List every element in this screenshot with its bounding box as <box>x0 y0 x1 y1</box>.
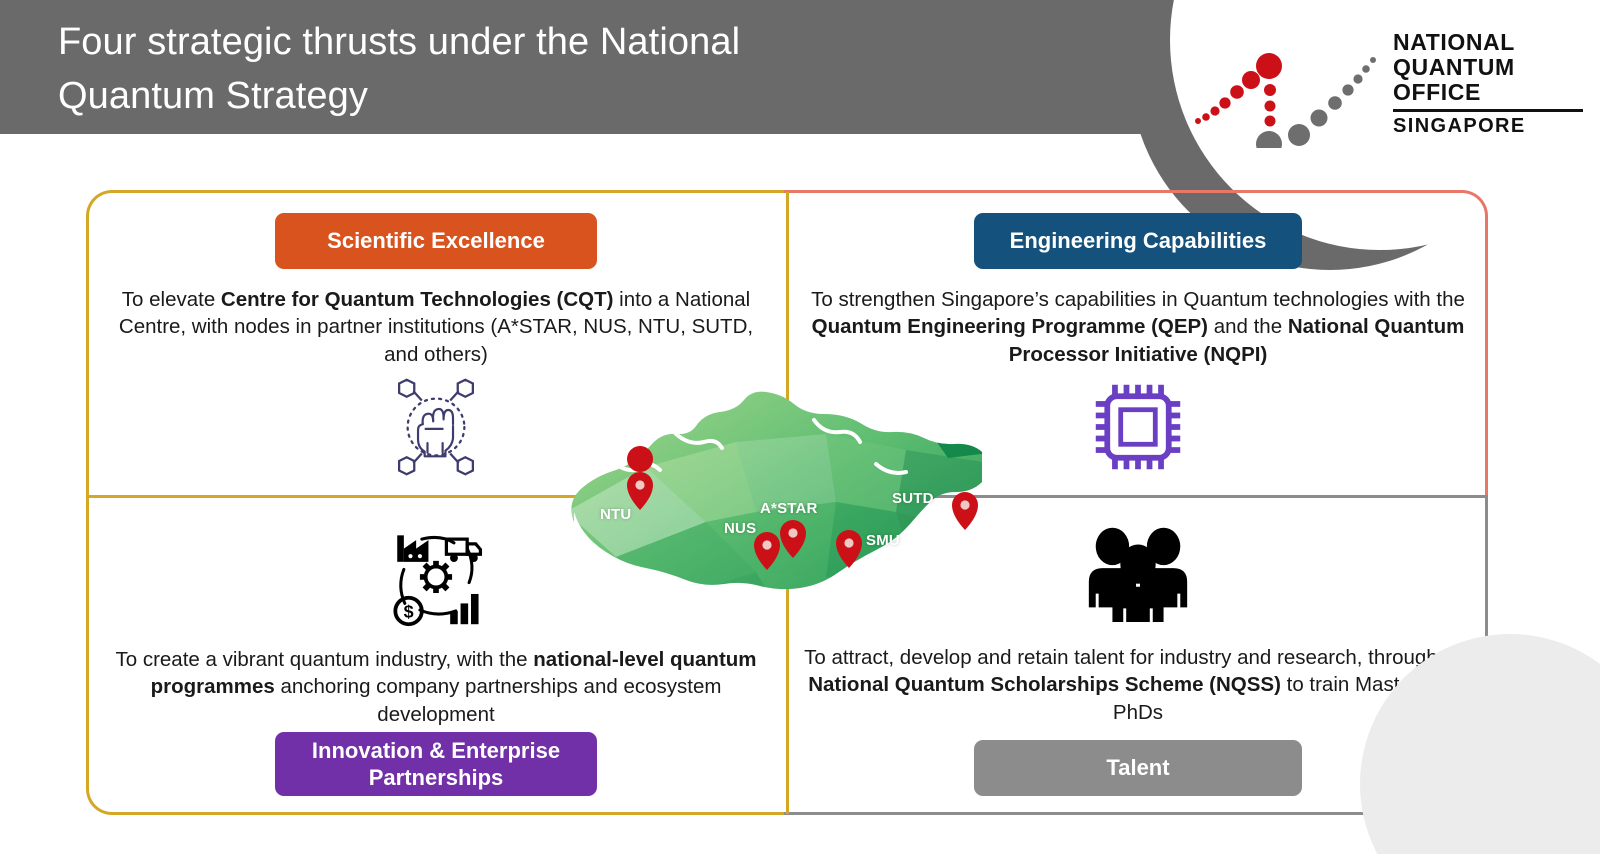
map-label-astar: A*STAR <box>760 500 818 517</box>
singapore-map: NTU NUS A*STAR SMU SUTD <box>556 372 1026 652</box>
map-label-nus: NUS <box>724 520 756 537</box>
slide-root: Four strategic thrusts under the Nationa… <box>0 0 1600 854</box>
svg-text:$: $ <box>404 602 414 622</box>
logo-dots-mark <box>1185 18 1385 148</box>
map-label-ntu: NTU <box>600 506 631 523</box>
logo-line-office: OFFICE <box>1393 80 1583 105</box>
group-of-people-icon <box>1078 516 1198 628</box>
page-title: Four strategic thrusts under the Nationa… <box>58 16 918 124</box>
map-label-sutd: SUTD <box>892 490 934 507</box>
logo-line-quantum: QUANTUM <box>1393 55 1583 80</box>
logo-line-singapore: SINGAPORE <box>1393 115 1583 138</box>
pill-talent[interactable]: Talent <box>974 740 1302 796</box>
pill-innovation-enterprise[interactable]: Innovation & Enterprise Partnerships <box>275 732 597 796</box>
map-label-smu: SMU <box>866 532 900 549</box>
nqo-logo: NATIONAL QUANTUM OFFICE SINGAPORE <box>1185 18 1585 148</box>
body-engineering-capabilities: To strengthen Singapore’s capabilities i… <box>806 286 1470 368</box>
map-pin-sutd <box>952 492 978 530</box>
logo-divider-rule <box>1393 109 1583 112</box>
logo-wordmark: NATIONAL QUANTUM OFFICE SINGAPORE <box>1393 30 1583 138</box>
logo-line-national: NATIONAL <box>1393 30 1583 55</box>
body-innovation-enterprise: To create a vibrant quantum industry, wi… <box>103 646 769 728</box>
body-talent: To attract, develop and retain talent fo… <box>804 644 1472 726</box>
pill-scientific-excellence[interactable]: Scientific Excellence <box>275 213 597 269</box>
body-scientific-excellence: To elevate Centre for Quantum Technologi… <box>113 286 759 368</box>
raised-fist-network-icon <box>376 372 496 482</box>
industry-ecosystem-icon: $ <box>376 520 496 632</box>
microchip-icon <box>1083 372 1193 482</box>
pill-engineering-capabilities[interactable]: Engineering Capabilities <box>974 213 1302 269</box>
